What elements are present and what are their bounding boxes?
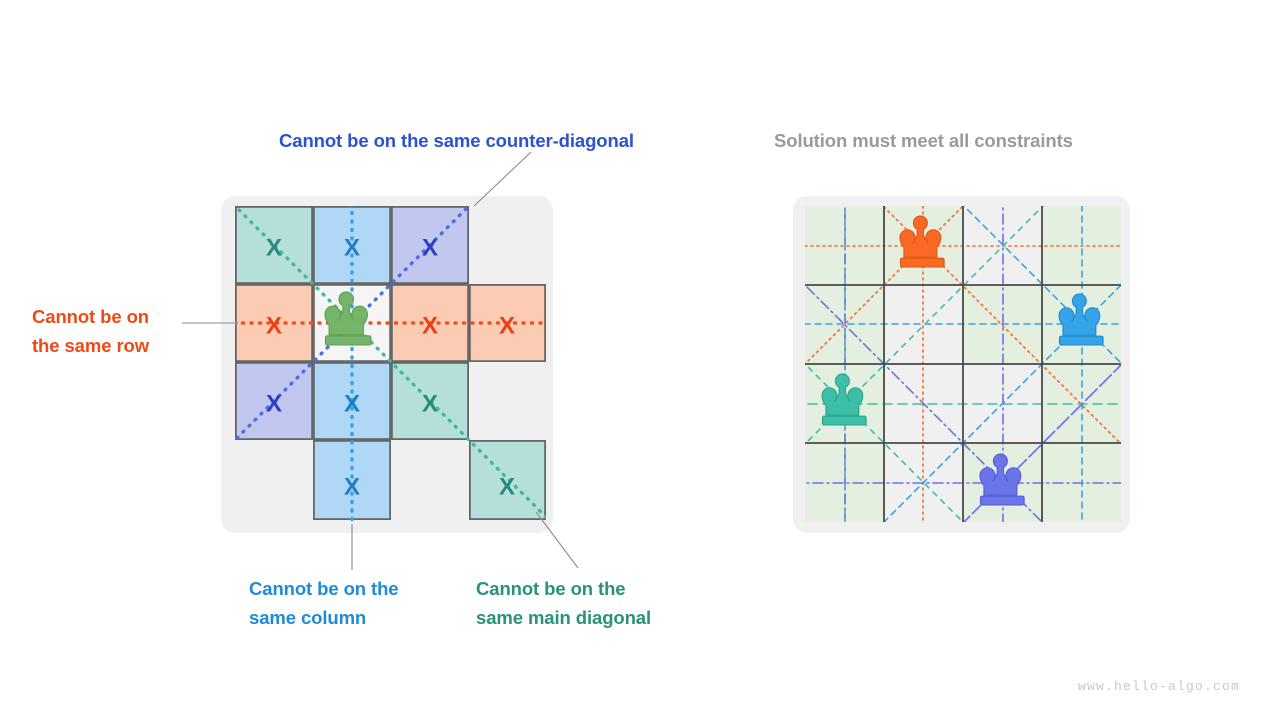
x-mark-r4c2: X [344,474,360,501]
x-mark-r3c3: X [422,391,438,418]
label-row: Cannot be on the same row [32,302,149,360]
cell-r1c4 [469,206,546,284]
label-solution: Solution must meet all constraints [774,126,1073,155]
label-column: Cannot be on the same column [249,574,398,632]
x-mark-r3c2: X [344,391,360,418]
x-mark-r2c3: X [422,313,438,340]
x-mark-r3c1: X [266,391,282,418]
constraint-board: X X X X X X X X X X X [235,206,546,522]
illustration-canvas: X X X X X X X X X X X [0,0,1280,720]
footer-watermark: www.hello-algo.com [1078,679,1240,694]
cell-r4c3 [391,440,469,520]
solution-board-graphics [805,206,1121,522]
x-mark-r4c4: X [499,474,515,501]
x-mark-r1c2: X [344,235,360,262]
x-mark-r1c3: X [422,235,438,262]
solution-board [805,206,1121,522]
cell-r4c1 [235,440,313,520]
x-mark-r1c1: X [266,235,282,262]
label-main-diagonal: Cannot be on the same main diagonal [476,574,651,632]
cell-r3c4 [469,362,546,440]
constraint-board-graphics: X X X X X X X X X X X [235,206,546,522]
x-mark-r2c1: X [266,313,282,340]
label-counter-diagonal: Cannot be on the same counter-diagonal [279,126,634,155]
x-mark-r2c4: X [499,313,515,340]
